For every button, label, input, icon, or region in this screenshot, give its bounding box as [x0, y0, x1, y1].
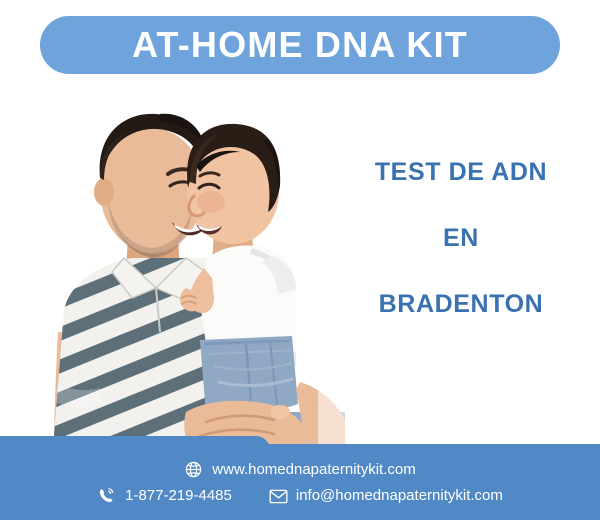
headline-line-1: TEST DE ADN	[330, 160, 592, 185]
headline-line-2: EN	[330, 226, 592, 251]
promo-card: AT-HOME DNA KIT	[0, 0, 600, 520]
page-title: AT-HOME DNA KIT	[132, 27, 468, 63]
footer-row-phone-email: 1-877-219-4485 info@homednapaternitykit.…	[97, 486, 503, 505]
email-item[interactable]: info@homednapaternitykit.com	[268, 486, 503, 505]
website-text: www.homednapaternitykit.com	[212, 462, 415, 477]
footer-contact-info: www.homednapaternitykit.com 1-877-219-44…	[0, 444, 600, 520]
globe-icon	[184, 460, 203, 479]
footer-row-website: www.homednapaternitykit.com	[184, 460, 415, 479]
headline-line-3: BRADENTON	[330, 292, 592, 317]
phone-item[interactable]: 1-877-219-4485	[97, 486, 232, 505]
family-photo-illustration	[0, 82, 345, 460]
phone-icon	[97, 486, 116, 505]
header-banner: AT-HOME DNA KIT	[40, 16, 560, 74]
headline-block: TEST DE ADN EN BRADENTON	[330, 160, 592, 317]
envelope-icon	[268, 486, 287, 505]
email-text: info@homednapaternitykit.com	[296, 488, 503, 503]
phone-text: 1-877-219-4485	[125, 488, 232, 503]
website-item[interactable]: www.homednapaternitykit.com	[184, 460, 415, 479]
family-photo	[0, 82, 345, 460]
